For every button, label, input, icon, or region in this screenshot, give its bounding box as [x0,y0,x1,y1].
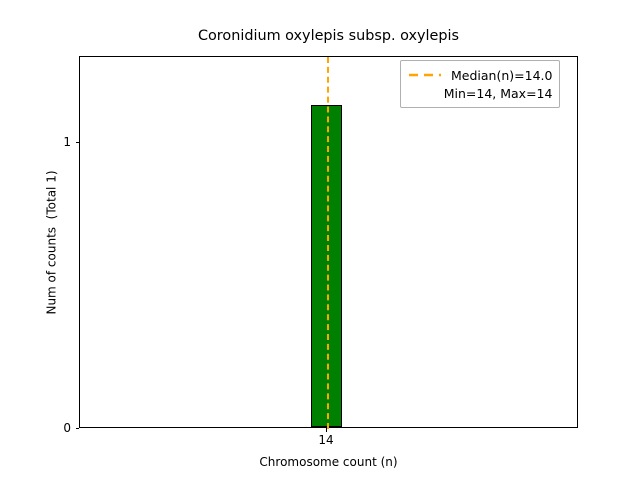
legend-label-minmax: Min=14, Max=14 [444,86,553,101]
ytick-mark-1 [76,142,80,143]
xtick-label-14: 14 [318,433,333,447]
dashed-line-icon [408,69,442,81]
legend: Median(n)=14.0 Min=14, Max=14 [400,60,560,108]
y-axis-label-spacer [45,219,59,227]
legend-item-median: Median(n)=14.0 [408,66,552,84]
xtick-mark-14 [326,428,327,432]
x-axis-label: Chromosome count (n) [79,455,578,469]
y-axis-label-line1: Num of counts [45,227,59,315]
y-axis-label-line2: (Total 1) [45,170,59,219]
median-line [327,57,329,429]
legend-item-minmax: Min=14, Max=14 [408,84,552,102]
plot-area [79,56,578,428]
y-axis-label: Num of counts (Total 1) [45,57,60,429]
ytick-mark-0 [76,428,80,429]
page-title: Coronidium oxylepis subsp. oxylepis [79,28,578,44]
legend-label-median: Median(n)=14.0 [451,68,552,83]
chart-figure: Coronidium oxylepis subsp. oxylepis 14 0… [0,0,640,480]
